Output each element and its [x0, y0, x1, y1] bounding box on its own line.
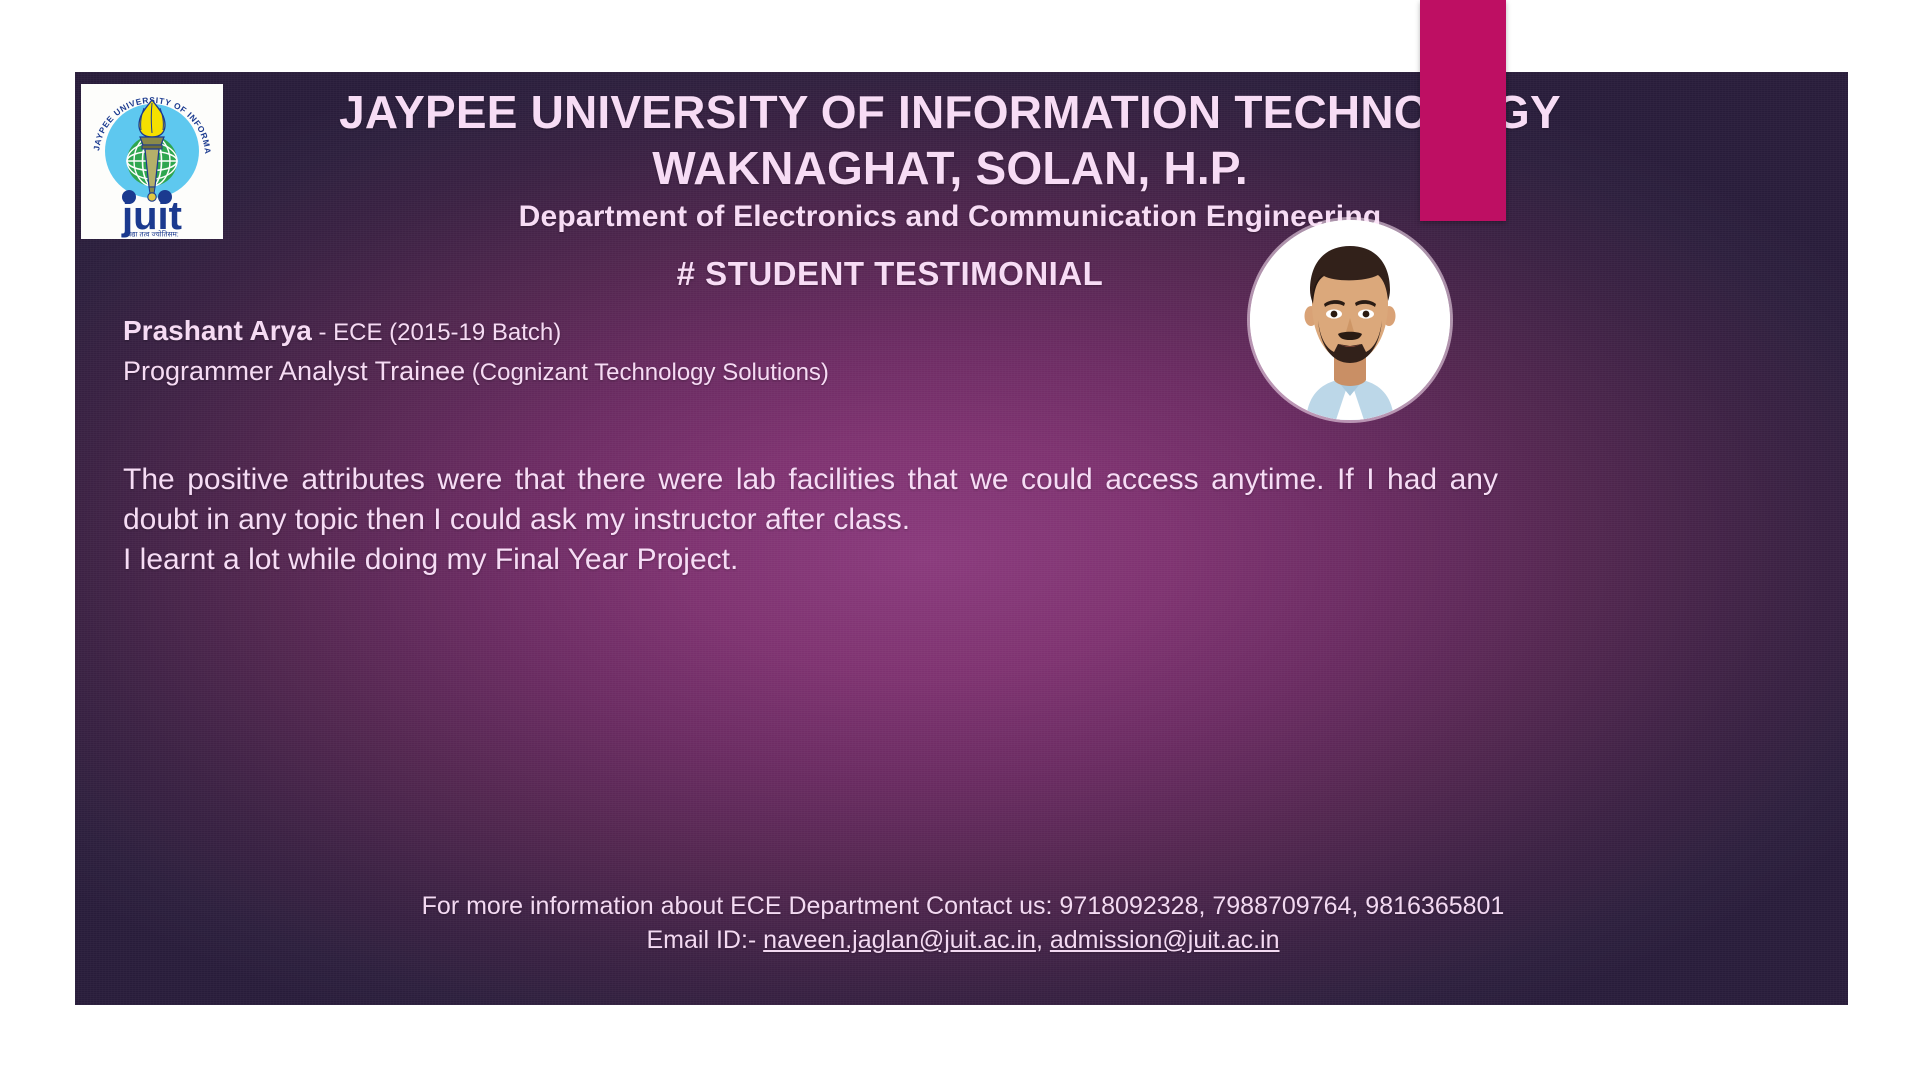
slide-content: JAYPEE UNIVERSITY OF INFORMATION TECHNOL…	[75, 72, 1848, 1005]
portrait-illustration	[1250, 220, 1450, 420]
avatar	[1250, 220, 1450, 420]
email-separator: ,	[1036, 926, 1050, 954]
juit-logo-icon: JAYPEE UNIVERSITY OF INFORMATION TECHNOL…	[81, 84, 223, 239]
student-name-row: Prashant Arya - ECE (2015-19 Batch)	[123, 312, 1253, 352]
student-batch: - ECE (2015-19 Batch)	[312, 319, 561, 346]
student-name: Prashant Arya	[123, 315, 312, 346]
email-link-admission[interactable]: admission@juit.ac.in	[1050, 926, 1280, 954]
student-role-row: Programmer Analyst Trainee (Cognizant Te…	[123, 352, 1253, 392]
university-logo: JAYPEE UNIVERSITY OF INFORMATION TECHNOL…	[81, 84, 223, 239]
email-label: Email ID:-	[646, 926, 763, 954]
testimonial-text: The positive attributes were that there …	[123, 460, 1498, 580]
testimonial-paragraph-2: I learnt a lot while doing my Final Year…	[123, 540, 1498, 580]
email-info: Email ID:- naveen.jaglan@juit.ac.in, adm…	[123, 924, 1803, 956]
footer: For more information about ECE Departmen…	[123, 890, 1803, 956]
accent-rectangle	[1420, 0, 1506, 221]
student-company: (Cognizant Technology Solutions)	[465, 359, 829, 386]
student-photo	[1250, 220, 1450, 420]
student-role: Programmer Analyst Trainee	[123, 356, 465, 386]
email-link-naveen[interactable]: naveen.jaglan@juit.ac.in	[763, 926, 1036, 954]
svg-text:विद्या तत्व ज्योतिसम:: विद्या तत्व ज्योतिसम:	[125, 230, 179, 239]
testimonial-slide: JAYPEE UNIVERSITY OF INFORMATION TECHNOL…	[75, 72, 1848, 1005]
student-info: Prashant Arya - ECE (2015-19 Batch) Prog…	[123, 312, 1253, 392]
contact-info: For more information about ECE Departmen…	[123, 890, 1803, 922]
testimonial-paragraph-1: The positive attributes were that there …	[123, 460, 1498, 540]
